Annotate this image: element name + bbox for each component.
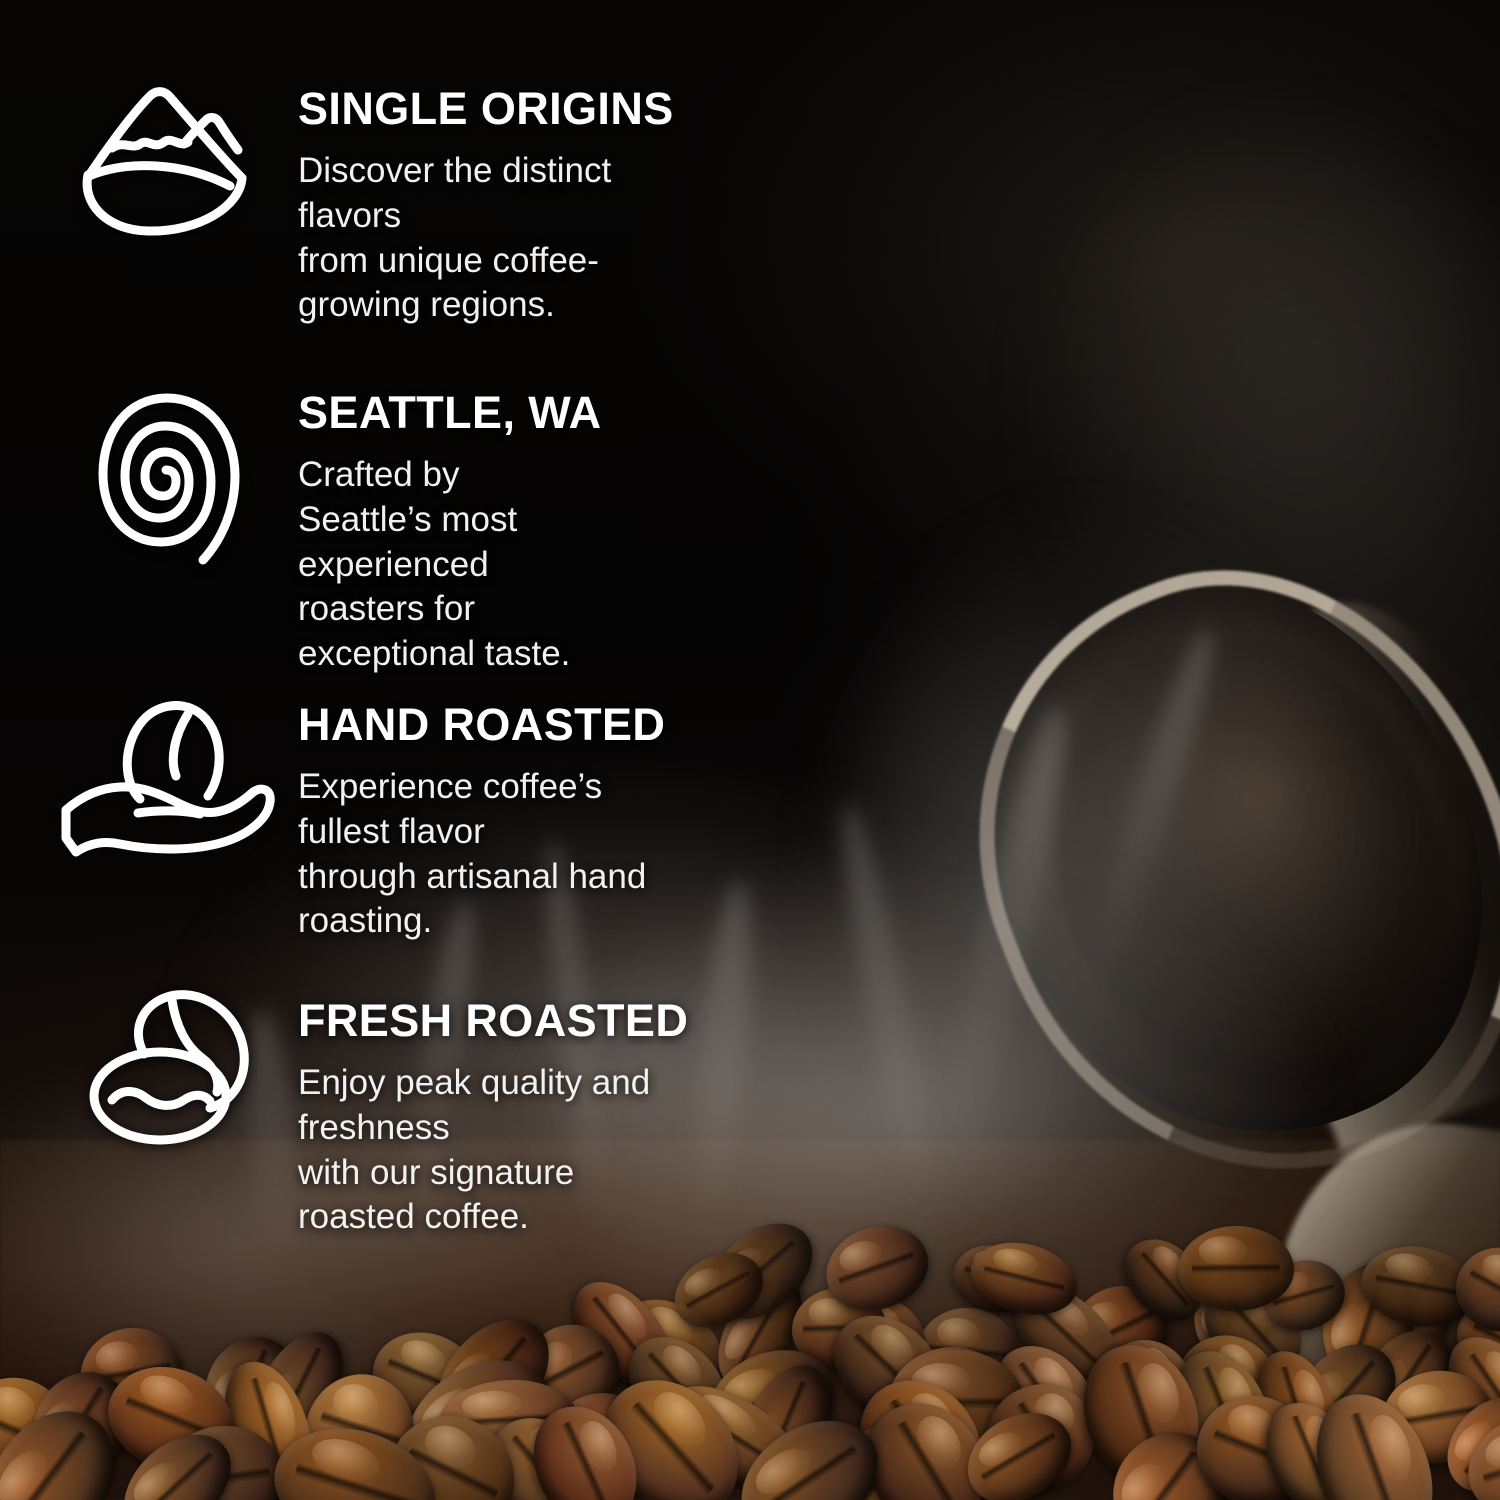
mountain-coffee-bean-icon	[72, 78, 262, 238]
product-feature-banner: SINGLE ORIGINS Discover the distinct fla…	[0, 0, 1500, 1500]
feature-description: Enjoy peak quality and freshness with ou…	[298, 1061, 688, 1240]
feature-title: SEATTLE, WA	[298, 390, 602, 435]
feature-description: Crafted by Seattle’s most experienced ro…	[298, 453, 602, 677]
feature-description: Experience coffee’s fullest flavor throu…	[298, 765, 665, 944]
feature-title: FRESH ROASTED	[298, 998, 688, 1043]
feature-text-block: SEATTLE, WA Crafted by Seattle’s most ex…	[298, 390, 602, 677]
feature-title: HAND ROASTED	[298, 702, 665, 747]
feature-text-block: FRESH ROASTED Enjoy peak quality and fre…	[298, 998, 688, 1240]
feature-text-block: HAND ROASTED Experience coffee’s fullest…	[298, 702, 665, 944]
feature-text-block: SINGLE ORIGINS Discover the distinct fla…	[298, 86, 674, 328]
hand-holding-bean-icon	[58, 692, 278, 857]
feature-description: Discover the distinct flavors from uniqu…	[298, 149, 674, 328]
fingerprint-icon	[95, 382, 245, 567]
feature-title: SINGLE ORIGINS	[298, 86, 674, 131]
two-coffee-beans-icon	[88, 988, 263, 1148]
